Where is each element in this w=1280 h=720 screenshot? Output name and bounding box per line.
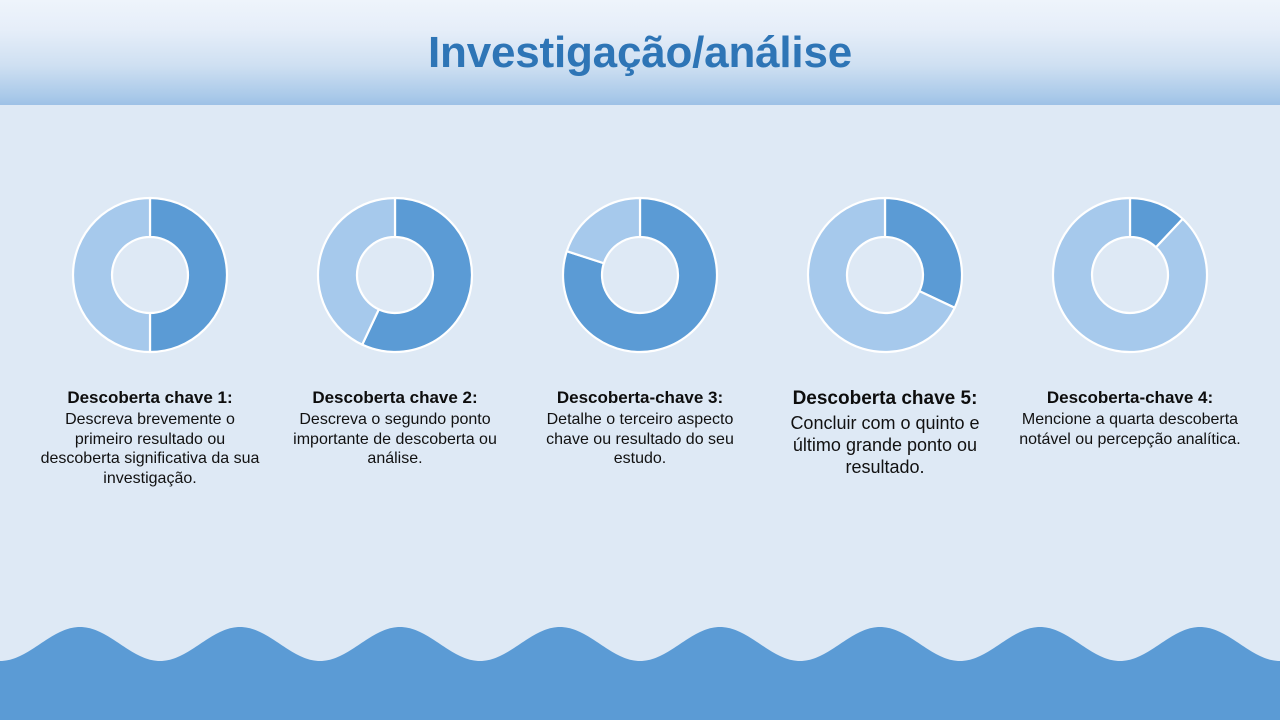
finding-column-5: Descoberta-chave 4: Mencione a quarta de… (1008, 190, 1252, 449)
donut-chart-3 (555, 190, 725, 360)
finding-body-5: Mencione a quarta descoberta notável ou … (1014, 410, 1246, 449)
wave-footer (0, 610, 1280, 720)
finding-title-3: Descoberta-chave 3: (524, 388, 756, 408)
finding-caption-5: Descoberta-chave 4: Mencione a quarta de… (1008, 388, 1252, 449)
finding-title-1: Descoberta chave 1: (34, 388, 266, 408)
finding-body-4: Concluir com o quinto e último grande po… (769, 413, 1001, 479)
finding-caption-1: Descoberta chave 1: Descreva brevemente … (28, 388, 272, 488)
finding-column-2: Descoberta chave 2: Descreva o segundo p… (273, 190, 517, 469)
slide-body: Descoberta chave 1: Descreva brevemente … (0, 105, 1280, 625)
finding-column-4: Descoberta chave 5: Concluir com o quint… (763, 190, 1007, 479)
findings-row: Descoberta chave 1: Descreva brevemente … (28, 190, 1252, 488)
donut-segment (567, 198, 640, 263)
donut-chart-1 (65, 190, 235, 360)
finding-title-2: Descoberta chave 2: (279, 388, 511, 408)
donut-segment (1053, 198, 1207, 352)
finding-caption-3: Descoberta-chave 3: Detalhe o terceiro a… (518, 388, 762, 469)
wave-shape (0, 627, 1280, 720)
finding-title-4: Descoberta chave 5: (769, 388, 1001, 411)
finding-body-3: Detalhe o terceiro aspecto chave ou resu… (524, 410, 756, 469)
donut-chart-4 (800, 190, 970, 360)
finding-title-5: Descoberta-chave 4: (1014, 388, 1246, 408)
finding-column-1: Descoberta chave 1: Descreva brevemente … (28, 190, 272, 488)
donut-segment (150, 198, 227, 352)
donut-chart-2 (310, 190, 480, 360)
finding-column-3: Descoberta-chave 3: Detalhe o terceiro a… (518, 190, 762, 469)
donut-segment (885, 198, 962, 308)
finding-caption-4: Descoberta chave 5: Concluir com o quint… (763, 388, 1007, 479)
finding-body-1: Descreva brevemente o primeiro resultado… (34, 410, 266, 488)
donut-segment (73, 198, 150, 352)
donut-chart-5 (1045, 190, 1215, 360)
finding-caption-2: Descoberta chave 2: Descreva o segundo p… (273, 388, 517, 469)
finding-body-2: Descreva o segundo ponto importante de d… (279, 410, 511, 469)
page-title: Investigação/análise (0, 0, 1280, 105)
